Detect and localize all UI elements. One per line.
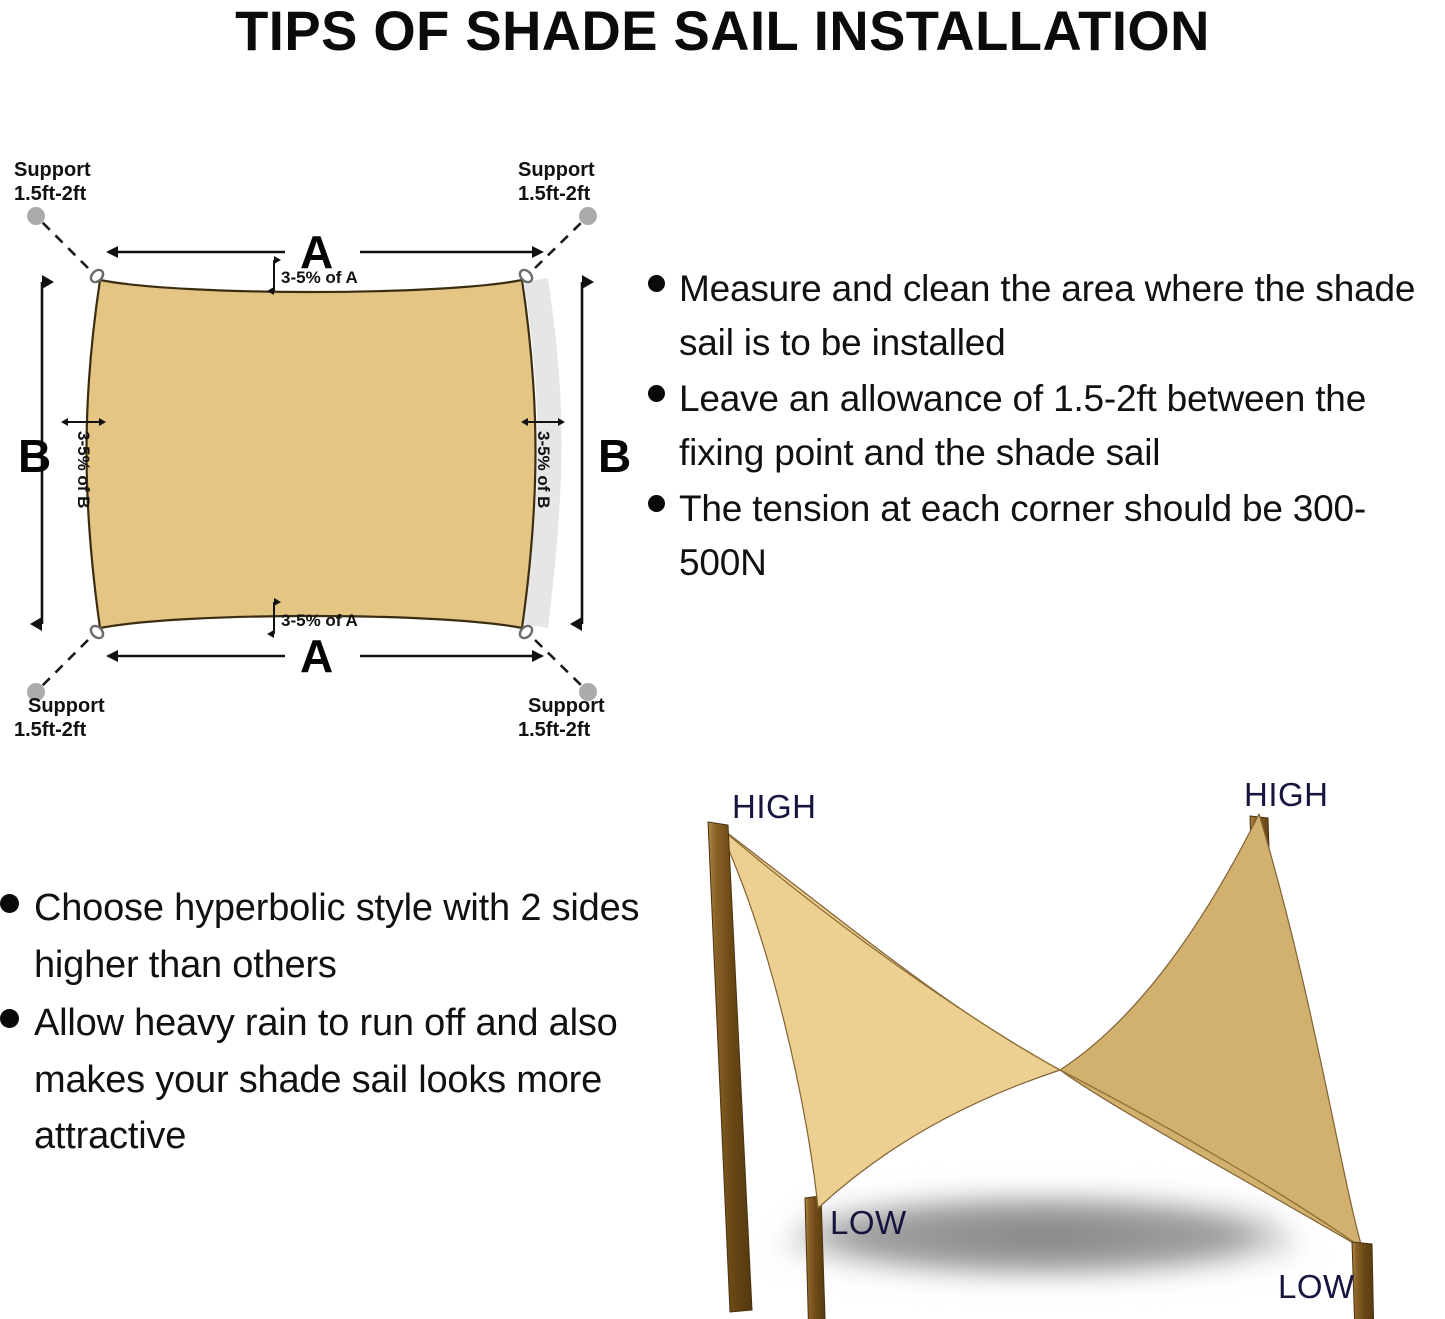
shade-sail-shape (87, 280, 536, 628)
dimension-b-right: B (582, 282, 631, 624)
curve-note-label: 3-5% of A (281, 268, 358, 287)
bullet-list: Choose hyperbolic style with 2 sides hig… (0, 880, 640, 1165)
support-label-line2: 1.5ft-2ft (14, 719, 87, 740)
dimension-b-left: B (18, 282, 51, 624)
post-right-low (1352, 1242, 1375, 1319)
label-low-left: LOW (830, 1204, 907, 1241)
tips-list-bottom: Choose hyperbolic style with 2 sides hig… (0, 880, 640, 1210)
curve-note-label: 3-5% of B (74, 431, 93, 508)
support-label-line1: Support (518, 159, 595, 181)
list-item-text: Allow heavy rain to run off and also mak… (34, 995, 640, 1165)
list-item: Allow heavy rain to run off and also mak… (0, 995, 640, 1165)
rectangular-sail-diagram: Support 1.5ft-2ft Support 1.5ft-2ft Supp… (0, 150, 660, 740)
page-title: TIPS OF SHADE SAIL INSTALLATION (22, 0, 1424, 62)
hyperbolic-sail-illustration: HIGH HIGH LOW LOW (640, 770, 1445, 1319)
label-high-right: HIGH (1244, 776, 1329, 813)
support-label-line1: Support (14, 159, 91, 181)
dimension-label-a-bottom: A (300, 630, 333, 682)
dimension-label-b-right: B (598, 430, 631, 482)
bullet-dot-icon (648, 385, 665, 402)
support-label-bottom-left: Support 1.5ft-2ft (14, 695, 105, 740)
support-label-line2: 1.5ft-2ft (518, 719, 591, 740)
sail-panel-right (1060, 814, 1362, 1248)
curve-note-label: 3-5% of B (534, 431, 553, 508)
support-label-line1: Support (528, 695, 605, 717)
list-item-text: The tension at each corner should be 300… (679, 482, 1445, 590)
curve-note-label: 3-5% of A (281, 611, 358, 630)
bullet-dot-icon (0, 894, 19, 913)
tips-list-top: Measure and clean the area where the sha… (648, 262, 1445, 662)
list-item: Choose hyperbolic style with 2 sides hig… (0, 880, 640, 993)
list-item-text: Choose hyperbolic style with 2 sides hig… (34, 880, 640, 993)
sail-panel-left (718, 826, 1060, 1208)
support-label-line2: 1.5ft-2ft (14, 183, 87, 205)
infographic-page: TIPS OF SHADE SAIL INSTALLATION (0, 0, 1445, 1319)
support-label-bottom-right: Support 1.5ft-2ft (518, 695, 605, 740)
dimension-label-b-left: B (18, 430, 51, 482)
bullet-list: Measure and clean the area where the sha… (648, 262, 1445, 590)
label-low-right: LOW (1278, 1268, 1355, 1305)
bullet-dot-icon (648, 495, 665, 512)
list-item-text: Measure and clean the area where the sha… (679, 262, 1445, 370)
list-item: Measure and clean the area where the sha… (648, 262, 1445, 370)
support-label-top-right: Support 1.5ft-2ft (518, 159, 595, 205)
support-label-top-left: Support 1.5ft-2ft (14, 159, 91, 205)
list-item: The tension at each corner should be 300… (648, 482, 1445, 590)
bullet-dot-icon (0, 1009, 19, 1028)
support-label-line2: 1.5ft-2ft (518, 183, 591, 205)
list-item: Leave an allowance of 1.5-2ft between th… (648, 372, 1445, 480)
support-label-line1: Support (28, 695, 105, 717)
post-left-high (708, 822, 752, 1312)
label-high-left: HIGH (732, 788, 817, 825)
list-item-text: Leave an allowance of 1.5-2ft between th… (679, 372, 1445, 480)
bullet-dot-icon (648, 275, 665, 292)
dimension-a-bottom: A (118, 630, 532, 682)
